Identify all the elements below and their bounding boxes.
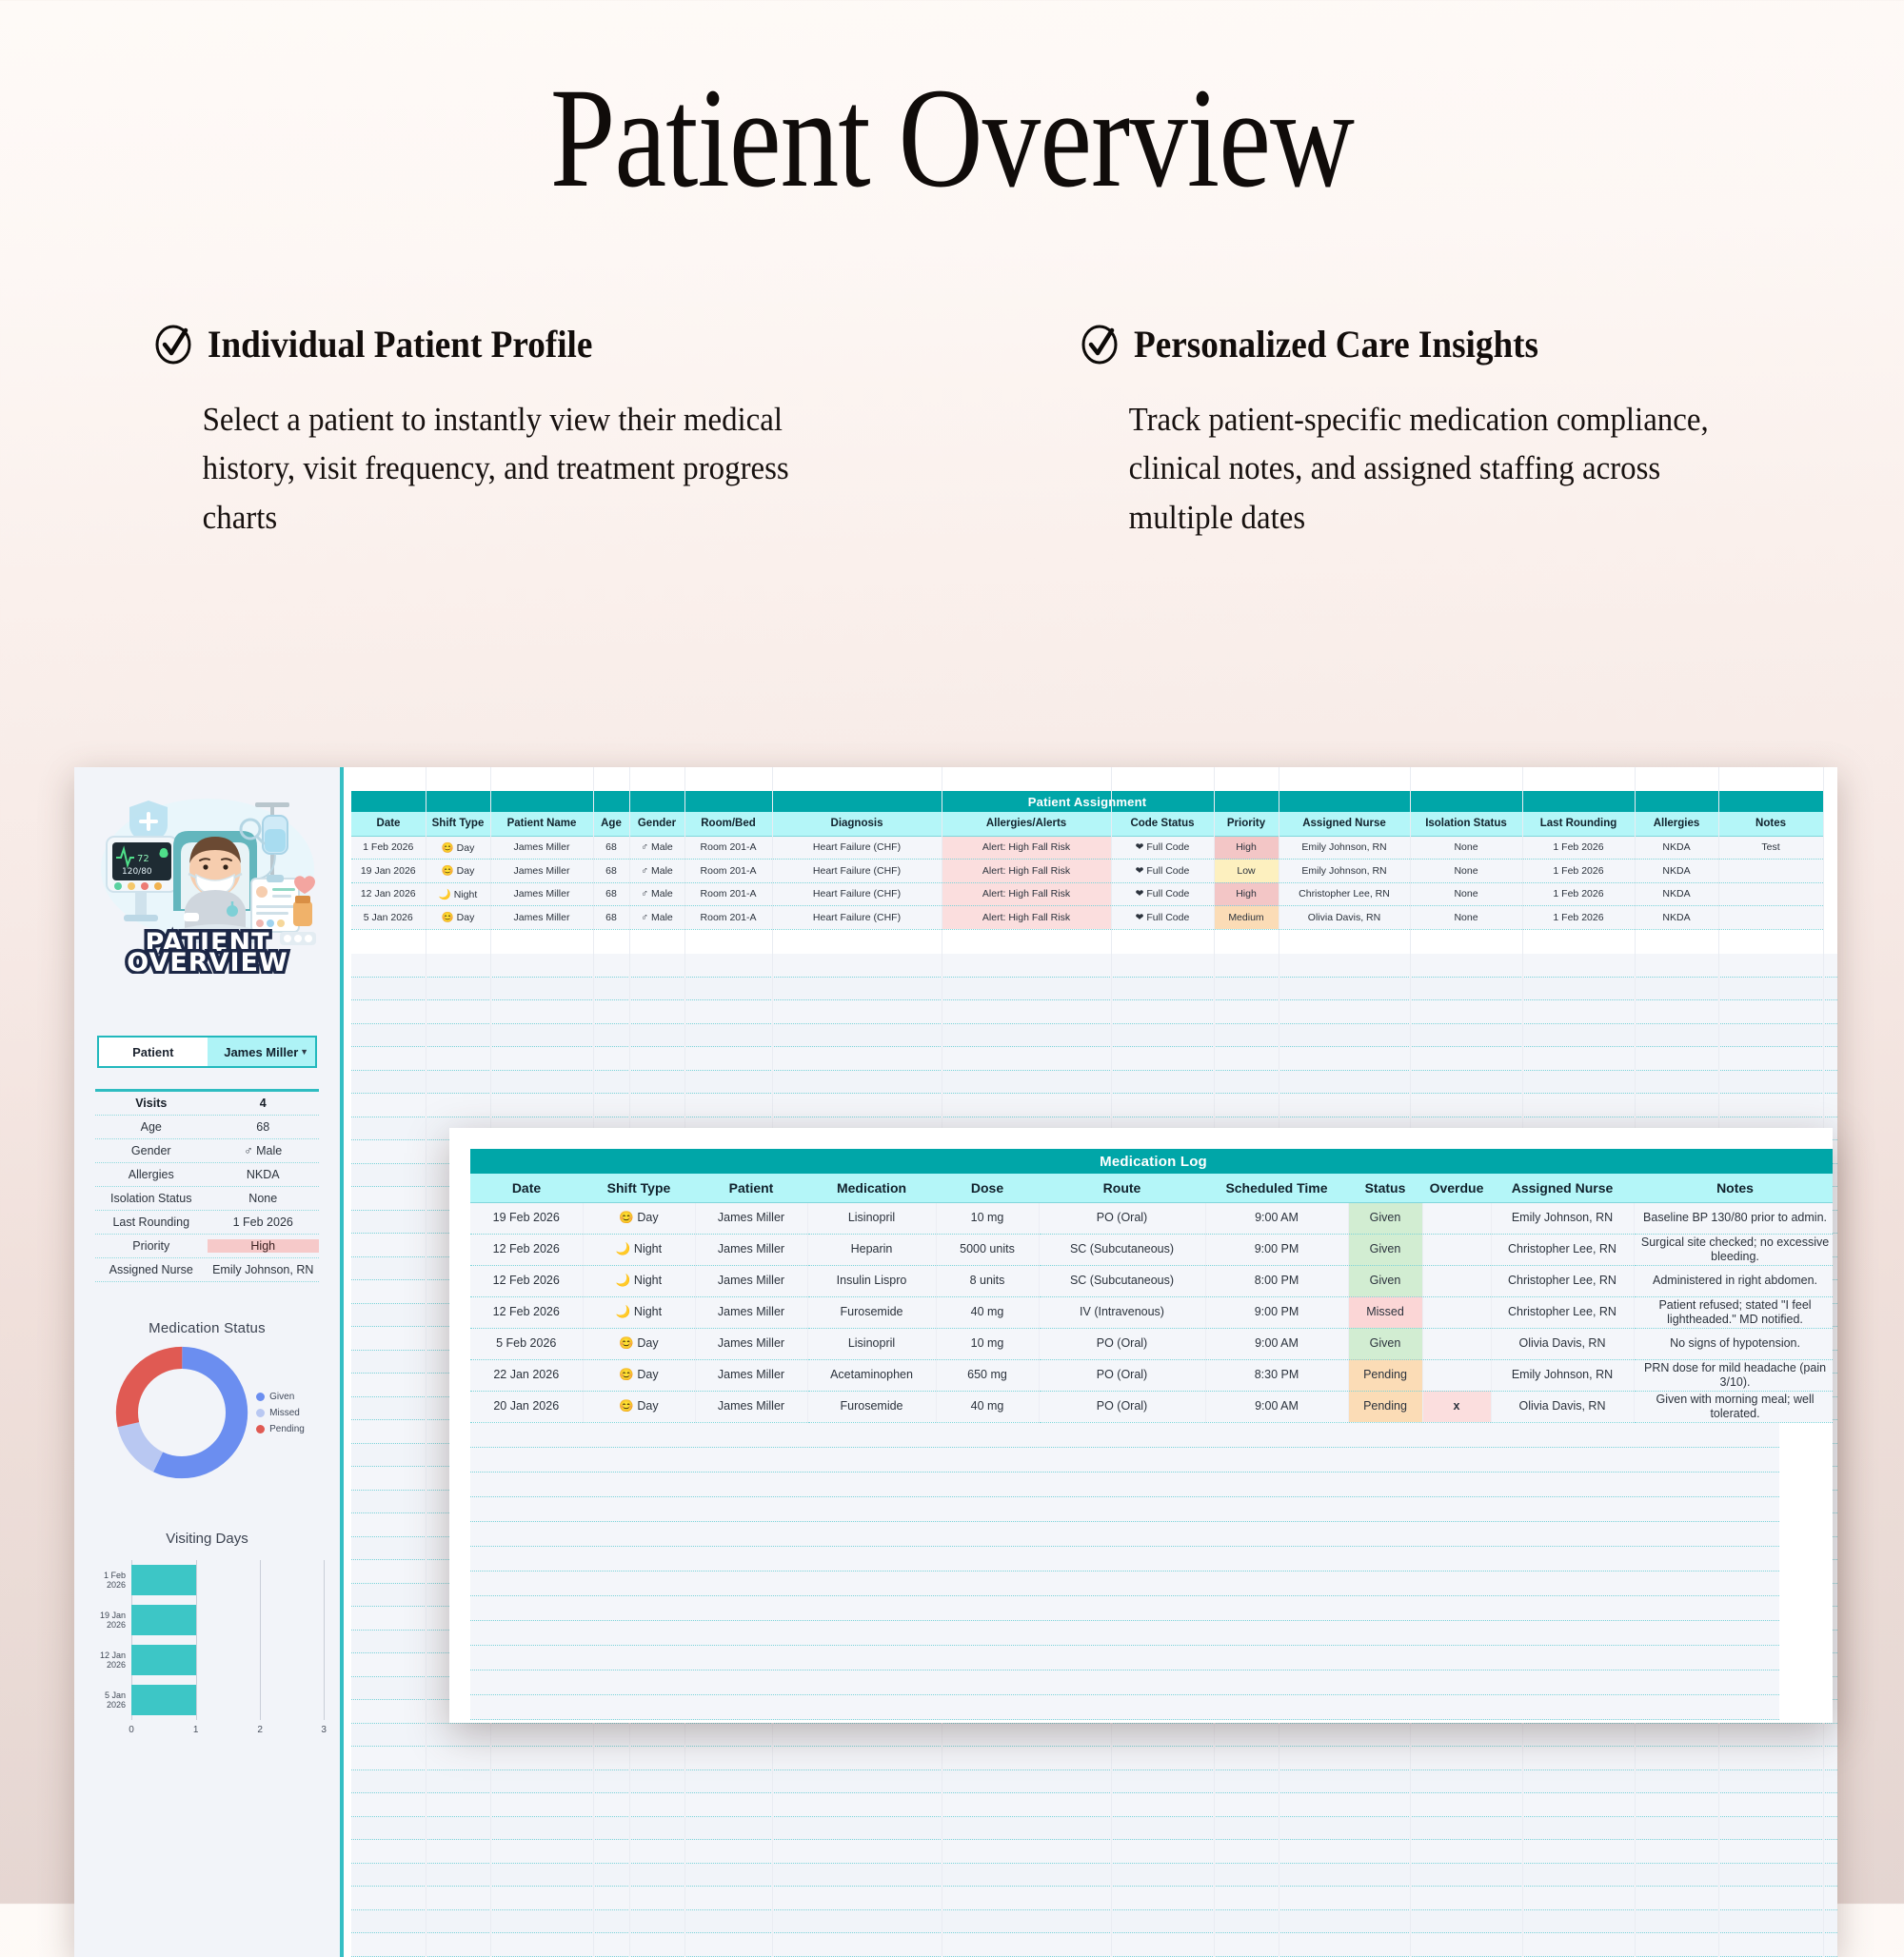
bar-row: 5 Jan 2026 bbox=[88, 1680, 325, 1720]
medication-log-empty-rows[interactable] bbox=[470, 1423, 1779, 1720]
cell-diagnosis[interactable]: Heart Failure (CHF) bbox=[772, 836, 942, 860]
table-header-row: Date Shift Type Patient Medication Dose … bbox=[470, 1174, 1833, 1202]
cell-shift[interactable]: 😊 Day bbox=[583, 1328, 695, 1359]
cell-patient[interactable]: James Miller bbox=[695, 1359, 807, 1391]
cell-route[interactable]: PO (Oral) bbox=[1039, 1391, 1205, 1422]
empty-grid-row[interactable] bbox=[351, 1887, 1837, 1910]
cell-date[interactable]: 19 Feb 2026 bbox=[470, 1202, 583, 1234]
chevron-down-icon[interactable]: ▼ bbox=[300, 1047, 308, 1057]
cell-route[interactable]: SC (Subcutaneous) bbox=[1039, 1265, 1205, 1296]
bar-category-label: 19 Jan 2026 bbox=[88, 1611, 131, 1630]
cell-date[interactable]: 12 Feb 2026 bbox=[470, 1296, 583, 1328]
sidebar-panel: 72 120/80 bbox=[74, 767, 344, 1957]
stat-key: Age bbox=[95, 1120, 208, 1134]
cell-nurse[interactable]: Christopher Lee, RN bbox=[1279, 882, 1410, 906]
table-banner-row: Patient Assignment bbox=[351, 791, 1823, 812]
cell-route[interactable]: PO (Oral) bbox=[1039, 1202, 1205, 1234]
col-gender[interactable]: Gender bbox=[629, 812, 684, 836]
table-row[interactable]: 12 Feb 2026 🌙 Night James Miller Insulin… bbox=[470, 1265, 1833, 1296]
stat-key: Last Rounding bbox=[95, 1216, 208, 1229]
cell-priority[interactable]: High bbox=[1214, 836, 1279, 860]
stat-value: 68 bbox=[208, 1120, 320, 1134]
stat-key: Priority bbox=[95, 1239, 208, 1253]
cell-status[interactable]: Given bbox=[1348, 1328, 1422, 1359]
cell-date[interactable]: 20 Jan 2026 bbox=[470, 1391, 583, 1422]
cell-gender[interactable]: ♂ Male bbox=[629, 836, 684, 860]
cell-shift[interactable]: 😊 Day bbox=[426, 860, 490, 883]
cell-medication[interactable]: Lisinopril bbox=[807, 1328, 936, 1359]
cell-nurse[interactable]: Christopher Lee, RN bbox=[1491, 1234, 1634, 1265]
cell-medication[interactable]: Acetaminophen bbox=[807, 1359, 936, 1391]
cell-notes[interactable] bbox=[1718, 860, 1823, 883]
cell-allergies[interactable]: NKDA bbox=[1635, 882, 1718, 906]
bar-category-label: 1 Feb 2026 bbox=[88, 1571, 131, 1590]
empty-grid-row[interactable] bbox=[351, 1770, 1837, 1794]
cell-allergies[interactable]: NKDA bbox=[1635, 860, 1718, 883]
cell-rounding[interactable]: 1 Feb 2026 bbox=[1522, 836, 1635, 860]
stat-key: Allergies bbox=[95, 1168, 208, 1181]
cell-patient[interactable]: James Miller bbox=[490, 882, 593, 906]
table-row[interactable]: 5 Jan 2026 😊 Day James Miller 68 ♂ Male … bbox=[351, 906, 1823, 930]
col-notes[interactable]: Notes bbox=[1718, 812, 1823, 836]
cell-priority[interactable]: High bbox=[1214, 882, 1279, 906]
stat-row: Assigned Nurse Emily Johnson, RN bbox=[95, 1258, 319, 1282]
cell-time[interactable]: 9:00 AM bbox=[1205, 1328, 1348, 1359]
col-scheduled-time[interactable]: Scheduled Time bbox=[1205, 1174, 1348, 1202]
col-medication[interactable]: Medication bbox=[807, 1174, 936, 1202]
col-isolation-status[interactable]: Isolation Status bbox=[1410, 812, 1522, 836]
feature-personalized-care-insights: Personalized Care Insights Track patient… bbox=[993, 322, 1761, 542]
cell-dose[interactable]: 40 mg bbox=[936, 1296, 1039, 1328]
stat-value: Emily Johnson, RN bbox=[208, 1263, 320, 1276]
patient-assignment-banner: Patient Assignment bbox=[351, 791, 1823, 812]
col-code-status[interactable]: Code Status bbox=[1111, 812, 1214, 836]
cell-patient[interactable]: James Miller bbox=[695, 1391, 807, 1422]
empty-grid-row[interactable] bbox=[351, 1840, 1837, 1864]
cell-room[interactable]: Room 201-A bbox=[684, 906, 772, 930]
empty-grid-row[interactable] bbox=[470, 1497, 1779, 1522]
col-assigned-nurse[interactable]: Assigned Nurse bbox=[1491, 1174, 1634, 1202]
bar-row: 12 Jan 2026 bbox=[88, 1640, 325, 1680]
cell-date[interactable]: 22 Jan 2026 bbox=[470, 1359, 583, 1391]
feature-title: Personalized Care Insights bbox=[1134, 322, 1538, 366]
table-row[interactable]: 22 Jan 2026 😊 Day James Miller Acetamino… bbox=[470, 1359, 1833, 1391]
empty-grid-row[interactable] bbox=[351, 1024, 1837, 1048]
cell-dose[interactable]: 650 mg bbox=[936, 1359, 1039, 1391]
stat-row-priority: Priority High bbox=[95, 1235, 319, 1258]
empty-grid-row[interactable] bbox=[351, 1000, 1837, 1024]
cell-alerts[interactable]: Alert: High Fall Risk bbox=[942, 860, 1111, 883]
cell-room[interactable]: Room 201-A bbox=[684, 860, 772, 883]
stat-row: Isolation Status None bbox=[95, 1187, 319, 1211]
legend-label: Pending bbox=[269, 1424, 305, 1434]
cell-shift[interactable]: 😊 Day bbox=[426, 906, 490, 930]
cell-shift[interactable]: 🌙 Night bbox=[426, 882, 490, 906]
priority-badge: High bbox=[208, 1239, 320, 1253]
cell-dose[interactable]: 10 mg bbox=[936, 1328, 1039, 1359]
stat-value: None bbox=[208, 1192, 320, 1205]
cell-isolation[interactable]: None bbox=[1410, 860, 1522, 883]
cell-dose[interactable]: 40 mg bbox=[936, 1391, 1039, 1422]
col-last-rounding[interactable]: Last Rounding bbox=[1522, 812, 1635, 836]
empty-grid-row[interactable] bbox=[351, 1071, 1837, 1095]
bar-fill bbox=[131, 1685, 196, 1715]
col-notes[interactable]: Notes bbox=[1634, 1174, 1833, 1202]
stat-row: Allergies NKDA bbox=[95, 1163, 319, 1187]
cell-medication[interactable]: Lisinopril bbox=[807, 1202, 936, 1234]
cell-shift[interactable]: 😊 Day bbox=[426, 836, 490, 860]
empty-grid-row[interactable] bbox=[470, 1522, 1779, 1547]
bar-chart-x-axis: 0 1 2 3 bbox=[88, 1723, 325, 1740]
cell-overdue[interactable] bbox=[1422, 1234, 1491, 1265]
col-shift-type[interactable]: Shift Type bbox=[583, 1174, 695, 1202]
cell-status[interactable]: Given bbox=[1348, 1202, 1422, 1234]
cell-patient[interactable]: James Miller bbox=[490, 906, 593, 930]
table-row[interactable]: 19 Jan 2026 😊 Day James Miller 68 ♂ Male… bbox=[351, 860, 1823, 883]
cell-allergies[interactable]: NKDA bbox=[1635, 906, 1718, 930]
cell-dose[interactable]: 10 mg bbox=[936, 1202, 1039, 1234]
medication-status-chart: Medication Status Given Missed Pending bbox=[84, 1320, 330, 1485]
svg-text:72: 72 bbox=[137, 854, 149, 864]
cell-status[interactable]: Pending bbox=[1348, 1359, 1422, 1391]
cell-code-status[interactable]: ❤ Full Code bbox=[1111, 836, 1214, 860]
cell-dose[interactable]: 5000 units bbox=[936, 1234, 1039, 1265]
cell-nurse[interactable]: Emily Johnson, RN bbox=[1491, 1202, 1634, 1234]
axis-tick: 1 bbox=[193, 1725, 199, 1735]
patient-selector-label: Patient bbox=[99, 1038, 208, 1066]
cell-notes[interactable]: Given with morning meal; well tolerated. bbox=[1634, 1391, 1833, 1422]
empty-grid-row[interactable] bbox=[351, 1864, 1837, 1888]
col-diagnosis[interactable]: Diagnosis bbox=[772, 812, 942, 836]
col-patient-name[interactable]: Patient Name bbox=[490, 812, 593, 836]
cell-shift[interactable]: 🌙 Night bbox=[583, 1296, 695, 1328]
col-age[interactable]: Age bbox=[593, 812, 629, 836]
cell-overdue[interactable] bbox=[1422, 1202, 1491, 1234]
table-row[interactable]: 20 Jan 2026 😊 Day James Miller Furosemid… bbox=[470, 1391, 1833, 1422]
legend-item-missed: Missed bbox=[256, 1408, 305, 1418]
feature-individual-patient-profile: Individual Patient Profile Select a pati… bbox=[152, 322, 917, 542]
cell-code-status[interactable]: ❤ Full Code bbox=[1111, 882, 1214, 906]
cell-patient[interactable]: James Miller bbox=[695, 1202, 807, 1234]
cell-shift[interactable]: 😊 Day bbox=[583, 1202, 695, 1234]
bar-row: 1 Feb 2026 bbox=[88, 1560, 325, 1600]
cell-overdue[interactable] bbox=[1422, 1265, 1491, 1296]
cell-age[interactable]: 68 bbox=[593, 860, 629, 883]
cell-notes[interactable]: No signs of hypotension. bbox=[1634, 1328, 1833, 1359]
feature-list: Individual Patient Profile Select a pati… bbox=[0, 322, 1904, 542]
stat-value: 1 Feb 2026 bbox=[208, 1216, 320, 1229]
col-assigned-nurse[interactable]: Assigned Nurse bbox=[1279, 812, 1410, 836]
cell-route[interactable]: SC (Subcutaneous) bbox=[1039, 1234, 1205, 1265]
cell-age[interactable]: 68 bbox=[593, 836, 629, 860]
cell-patient[interactable]: James Miller bbox=[695, 1265, 807, 1296]
cell-room[interactable]: Room 201-A bbox=[684, 882, 772, 906]
empty-grid-row[interactable] bbox=[351, 1094, 1837, 1117]
cell-medication[interactable]: Insulin Lispro bbox=[807, 1265, 936, 1296]
table-row[interactable]: 5 Feb 2026 😊 Day James Miller Lisinopril… bbox=[470, 1328, 1833, 1359]
cell-time[interactable]: 9:00 PM bbox=[1205, 1296, 1348, 1328]
cell-status[interactable]: Pending bbox=[1348, 1391, 1422, 1422]
empty-grid-row[interactable] bbox=[351, 1933, 1837, 1957]
empty-grid-row[interactable] bbox=[351, 954, 1837, 978]
cell-room[interactable]: Room 201-A bbox=[684, 836, 772, 860]
cell-notes[interactable]: Administered in right abdomen. bbox=[1634, 1265, 1833, 1296]
empty-grid-row[interactable] bbox=[470, 1572, 1779, 1596]
cell-code-status[interactable]: ❤ Full Code bbox=[1111, 906, 1214, 930]
axis-tick: 2 bbox=[257, 1725, 263, 1735]
cell-notes[interactable]: Test bbox=[1718, 836, 1823, 860]
table-row[interactable]: 12 Feb 2026 🌙 Night James Miller Heparin… bbox=[470, 1234, 1833, 1265]
stat-row: Visits 4 bbox=[95, 1092, 319, 1116]
cell-notes[interactable] bbox=[1718, 906, 1823, 930]
cell-date[interactable]: 19 Jan 2026 bbox=[351, 860, 426, 883]
cell-status[interactable]: Given bbox=[1348, 1265, 1422, 1296]
empty-grid-row[interactable] bbox=[351, 1793, 1837, 1817]
cell-route[interactable]: IV (Intravenous) bbox=[1039, 1296, 1205, 1328]
cell-patient[interactable]: James Miller bbox=[490, 860, 593, 883]
patient-selector[interactable]: Patient James Miller ▼ bbox=[97, 1036, 317, 1068]
col-status[interactable]: Status bbox=[1348, 1174, 1422, 1202]
axis-tick: 3 bbox=[321, 1725, 327, 1735]
cell-medication[interactable]: Furosemide bbox=[807, 1391, 936, 1422]
empty-grid-row[interactable] bbox=[351, 978, 1837, 1001]
empty-grid-row[interactable] bbox=[470, 1670, 1779, 1695]
cell-time[interactable]: 8:30 PM bbox=[1205, 1359, 1348, 1391]
cell-nurse[interactable]: Olivia Davis, RN bbox=[1279, 906, 1410, 930]
medication-log-banner: Medication Log bbox=[470, 1149, 1833, 1174]
cell-time[interactable]: 9:00 AM bbox=[1205, 1391, 1348, 1422]
cell-allergies[interactable]: NKDA bbox=[1635, 836, 1718, 860]
cell-notes[interactable]: Surgical site checked; no excessive blee… bbox=[1634, 1234, 1833, 1265]
cell-isolation[interactable]: None bbox=[1410, 836, 1522, 860]
cell-rounding[interactable]: 1 Feb 2026 bbox=[1522, 860, 1635, 883]
cell-nurse[interactable]: Christopher Lee, RN bbox=[1491, 1265, 1634, 1296]
empty-grid-row[interactable] bbox=[470, 1547, 1779, 1572]
stat-key: Assigned Nurse bbox=[95, 1263, 208, 1276]
cell-gender[interactable]: ♂ Male bbox=[629, 906, 684, 930]
col-date[interactable]: Date bbox=[351, 812, 426, 836]
col-dose[interactable]: Dose bbox=[936, 1174, 1039, 1202]
cell-gender[interactable]: ♂ Male bbox=[629, 882, 684, 906]
cell-notes[interactable]: Baseline BP 130/80 prior to admin. bbox=[1634, 1202, 1833, 1234]
empty-grid-row[interactable] bbox=[470, 1448, 1779, 1473]
cell-date[interactable]: 1 Feb 2026 bbox=[351, 836, 426, 860]
col-allergies[interactable]: Allergies bbox=[1635, 812, 1718, 836]
stat-row: Gender ♂ Male bbox=[95, 1139, 319, 1163]
cell-diagnosis[interactable]: Heart Failure (CHF) bbox=[772, 906, 942, 930]
cell-isolation[interactable]: None bbox=[1410, 906, 1522, 930]
cell-date[interactable]: 12 Feb 2026 bbox=[470, 1265, 583, 1296]
empty-grid-row[interactable] bbox=[351, 1817, 1837, 1841]
feature-title: Individual Patient Profile bbox=[208, 322, 592, 366]
stat-row: Last Rounding 1 Feb 2026 bbox=[95, 1211, 319, 1235]
feature-body: Track patient-specific medication compli… bbox=[1079, 395, 1720, 542]
col-allergies-alerts[interactable]: Allergies/Alerts bbox=[942, 812, 1111, 836]
cell-dose[interactable]: 8 units bbox=[936, 1265, 1039, 1296]
col-route[interactable]: Route bbox=[1039, 1174, 1205, 1202]
table-row[interactable]: 19 Feb 2026 😊 Day James Miller Lisinopri… bbox=[470, 1202, 1833, 1234]
empty-grid-row[interactable] bbox=[351, 1047, 1837, 1071]
cell-age[interactable]: 68 bbox=[593, 882, 629, 906]
cell-alerts[interactable]: Alert: High Fall Risk bbox=[942, 836, 1111, 860]
stat-value: 4 bbox=[208, 1097, 320, 1110]
cell-age[interactable]: 68 bbox=[593, 906, 629, 930]
cell-status[interactable]: Missed bbox=[1348, 1296, 1422, 1328]
cell-patient[interactable]: James Miller bbox=[490, 836, 593, 860]
col-patient[interactable]: Patient bbox=[695, 1174, 807, 1202]
table-banner-row: Medication Log bbox=[470, 1149, 1833, 1174]
legend-item-given: Given bbox=[256, 1392, 305, 1402]
legend-label: Missed bbox=[269, 1408, 300, 1418]
cell-patient[interactable]: James Miller bbox=[695, 1234, 807, 1265]
cell-overdue[interactable] bbox=[1422, 1359, 1491, 1391]
cell-diagnosis[interactable]: Heart Failure (CHF) bbox=[772, 860, 942, 883]
table-row[interactable]: 1 Feb 2026 😊 Day James Miller 68 ♂ Male … bbox=[351, 836, 1823, 860]
cell-shift[interactable]: 🌙 Night bbox=[583, 1234, 695, 1265]
patient-in-hospital-bed-illustration: 72 120/80 bbox=[84, 781, 330, 980]
empty-grid-row[interactable] bbox=[470, 1423, 1779, 1448]
cell-overdue[interactable] bbox=[1422, 1296, 1491, 1328]
bar-fill bbox=[131, 1565, 196, 1595]
patient-selector-value-text: James Miller bbox=[224, 1045, 298, 1059]
check-circle-icon bbox=[152, 324, 194, 370]
cell-notes[interactable]: Patient refused; stated "I feel lighthea… bbox=[1634, 1296, 1833, 1328]
cell-shift[interactable]: 🌙 Night bbox=[583, 1265, 695, 1296]
cell-date[interactable]: 5 Jan 2026 bbox=[351, 906, 426, 930]
cell-date[interactable]: 12 Jan 2026 bbox=[351, 882, 426, 906]
medication-log-table[interactable]: Medication Log Date Shift Type Patient M… bbox=[470, 1149, 1833, 1423]
cell-notes[interactable]: PRN dose for mild headache (pain 3/10). bbox=[1634, 1359, 1833, 1391]
stat-key: Isolation Status bbox=[95, 1192, 208, 1205]
stat-key: Visits bbox=[95, 1097, 208, 1110]
svg-text:120/80: 120/80 bbox=[122, 867, 152, 877]
bar-row: 19 Jan 2026 bbox=[88, 1600, 325, 1640]
empty-grid-row[interactable] bbox=[351, 1724, 1837, 1748]
bar-category-label: 12 Jan 2026 bbox=[88, 1651, 131, 1670]
cell-status[interactable]: Given bbox=[1348, 1234, 1422, 1265]
page-title: Patient Overview bbox=[171, 0, 1733, 209]
stat-row: Age 68 bbox=[95, 1116, 319, 1139]
bar-fill bbox=[131, 1605, 196, 1635]
empty-grid-row[interactable] bbox=[470, 1473, 1779, 1497]
cell-rounding[interactable]: 1 Feb 2026 bbox=[1522, 906, 1635, 930]
logo-text-line2: OVERVIEW bbox=[127, 948, 288, 974]
cell-time[interactable]: 9:00 PM bbox=[1205, 1234, 1348, 1265]
table-header-row: Date Shift Type Patient Name Age Gender … bbox=[351, 812, 1823, 836]
cell-priority[interactable]: Low bbox=[1214, 860, 1279, 883]
cell-date[interactable]: 12 Feb 2026 bbox=[470, 1234, 583, 1265]
empty-grid-row[interactable] bbox=[470, 1621, 1779, 1646]
cell-nurse[interactable]: Emily Johnson, RN bbox=[1279, 836, 1410, 860]
donut-chart bbox=[109, 1340, 254, 1485]
cell-rounding[interactable]: 1 Feb 2026 bbox=[1522, 882, 1635, 906]
empty-grid-row[interactable] bbox=[470, 1695, 1779, 1720]
col-priority[interactable]: Priority bbox=[1214, 812, 1279, 836]
cell-shift[interactable]: 😊 Day bbox=[583, 1391, 695, 1422]
col-overdue[interactable]: Overdue bbox=[1422, 1174, 1491, 1202]
cell-patient[interactable]: James Miller bbox=[695, 1296, 807, 1328]
col-room-bed[interactable]: Room/Bed bbox=[684, 812, 772, 836]
grid-column-divider bbox=[426, 767, 426, 1957]
cell-overdue[interactable] bbox=[1422, 1328, 1491, 1359]
table-row[interactable]: 12 Jan 2026 🌙 Night James Miller 68 ♂ Ma… bbox=[351, 882, 1823, 906]
chart-title: Medication Status bbox=[84, 1320, 330, 1336]
cell-overdue[interactable]: x bbox=[1422, 1391, 1491, 1422]
patient-stats-table: Visits 4 Age 68 Gender ♂ Male Allergies … bbox=[95, 1089, 319, 1282]
cell-patient[interactable]: James Miller bbox=[695, 1328, 807, 1359]
cell-route[interactable]: PO (Oral) bbox=[1039, 1328, 1205, 1359]
cell-alerts[interactable]: Alert: High Fall Risk bbox=[942, 882, 1111, 906]
cell-nurse[interactable]: Emily Johnson, RN bbox=[1491, 1359, 1634, 1391]
empty-grid-row[interactable] bbox=[470, 1646, 1779, 1670]
donut-legend: Given Missed Pending bbox=[256, 1386, 305, 1440]
feature-body: Select a patient to instantly view their… bbox=[152, 395, 871, 542]
legend-item-pending: Pending bbox=[256, 1424, 305, 1434]
cell-gender[interactable]: ♂ Male bbox=[629, 860, 684, 883]
empty-grid-row[interactable] bbox=[470, 1596, 1779, 1621]
col-shift-type[interactable]: Shift Type bbox=[426, 812, 490, 836]
cell-nurse[interactable]: Olivia Davis, RN bbox=[1491, 1391, 1634, 1422]
cell-nurse[interactable]: Olivia Davis, RN bbox=[1491, 1328, 1634, 1359]
stat-value: NKDA bbox=[208, 1168, 320, 1181]
cell-notes[interactable] bbox=[1718, 882, 1823, 906]
patient-selector-value[interactable]: James Miller ▼ bbox=[208, 1038, 316, 1066]
cell-alerts[interactable]: Alert: High Fall Risk bbox=[942, 906, 1111, 930]
empty-grid-row[interactable] bbox=[351, 1747, 1837, 1770]
cell-time[interactable]: 9:00 AM bbox=[1205, 1202, 1348, 1234]
visiting-days-chart: Visiting Days 1 Feb 2026 19 Jan 2026 bbox=[84, 1531, 330, 1740]
medication-log-window[interactable]: Medication Log Date Shift Type Patient M… bbox=[449, 1128, 1833, 1723]
cell-shift[interactable]: 😊 Day bbox=[583, 1359, 695, 1391]
patient-assignment-table[interactable]: Patient Assignment Date Shift Type Patie… bbox=[351, 791, 1824, 930]
cell-priority[interactable]: Medium bbox=[1214, 906, 1279, 930]
bar-fill bbox=[131, 1645, 196, 1675]
cell-medication[interactable]: Heparin bbox=[807, 1234, 936, 1265]
cell-code-status[interactable]: ❤ Full Code bbox=[1111, 860, 1214, 883]
chart-title: Visiting Days bbox=[84, 1531, 330, 1547]
cell-time[interactable]: 8:00 PM bbox=[1205, 1265, 1348, 1296]
cell-nurse[interactable]: Emily Johnson, RN bbox=[1279, 860, 1410, 883]
col-date[interactable]: Date bbox=[470, 1174, 583, 1202]
cell-isolation[interactable]: None bbox=[1410, 882, 1522, 906]
cell-date[interactable]: 5 Feb 2026 bbox=[470, 1328, 583, 1359]
bar-category-label: 5 Jan 2026 bbox=[88, 1690, 131, 1710]
cell-route[interactable]: PO (Oral) bbox=[1039, 1359, 1205, 1391]
cell-medication[interactable]: Furosemide bbox=[807, 1296, 936, 1328]
axis-tick: 0 bbox=[129, 1725, 134, 1735]
table-row[interactable]: 12 Feb 2026 🌙 Night James Miller Furosem… bbox=[470, 1296, 1833, 1328]
empty-grid-row[interactable] bbox=[351, 1910, 1837, 1934]
stat-value: ♂ Male bbox=[208, 1144, 320, 1157]
check-circle-icon bbox=[1079, 324, 1121, 370]
cell-diagnosis[interactable]: Heart Failure (CHF) bbox=[772, 882, 942, 906]
stat-key: Gender bbox=[95, 1144, 208, 1157]
cell-nurse[interactable]: Christopher Lee, RN bbox=[1491, 1296, 1634, 1328]
legend-label: Given bbox=[269, 1392, 294, 1402]
donut-slice-pending bbox=[128, 1357, 237, 1467]
